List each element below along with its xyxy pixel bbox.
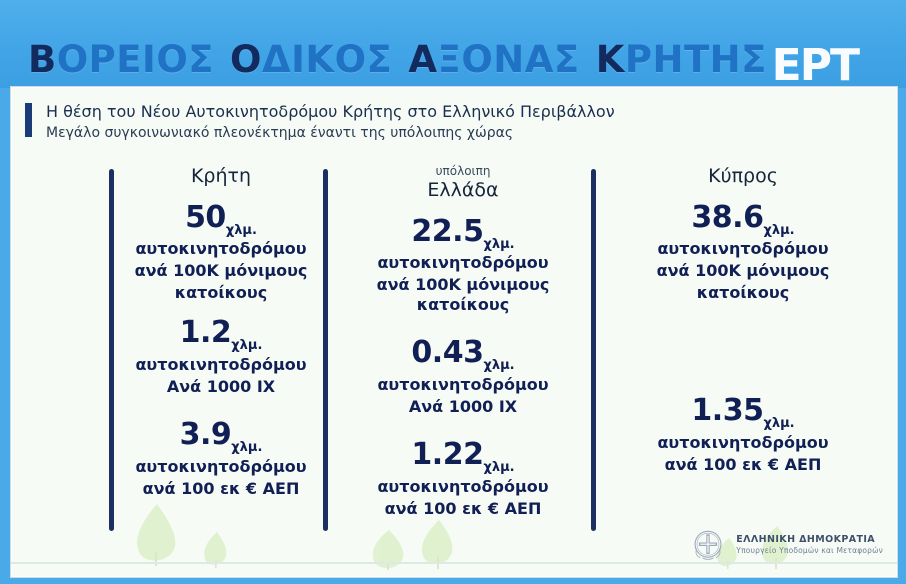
metric-value: 1.35χλμ. [603, 395, 883, 431]
metric-desc-line-1: αυτοκινητοδρόμου [603, 433, 883, 453]
title-word-4: ΚΡΗΤΗΣ [596, 38, 767, 81]
metric-unit: χλμ. [763, 416, 794, 431]
metric-desc-line-2: Ανά 1000 ΙΧ [335, 397, 591, 417]
header-band: ΒΟΡΕΙΟΣΟΔΙΚΟΣΑΞΟΝΑΣΚΡΗΤΗΣ ΕΡΤ [0, 0, 906, 88]
metric-unit: χλμ. [231, 440, 262, 455]
title-word-1: ΒΟΡΕΙΟΣ [28, 38, 214, 81]
metric-number: 1.22 [411, 437, 483, 472]
metric-greece-population: 22.5χλμ. αυτοκινητοδρόμου ανά 100Κ μόνιμ… [335, 216, 591, 316]
metric-unit: χλμ. [483, 358, 514, 373]
title-word-4-cap: Κ [596, 38, 625, 81]
metric-number: 1.35 [691, 393, 763, 428]
metric-value: 50χλμ. [121, 202, 321, 238]
metric-desc-line-2: ανά 100 εκ € ΑΕΠ [603, 455, 883, 475]
column-divider-3 [591, 169, 596, 531]
column-cyprus: Κύπρος 38.6χλμ. αυτοκινητοδρόμου ανά 100… [603, 165, 883, 475]
comparison-columns: Κρήτη 50χλμ. αυτοκινητοδρόμου ανά 100Κ μ… [11, 165, 897, 545]
metric-number: 3.9 [180, 417, 232, 452]
column-crete-header: Κρήτη [121, 166, 321, 188]
subtitle-secondary: Μεγάλο συγκοινωνιακό πλεονέκτημα έναντι … [46, 123, 615, 143]
metric-number: 1.2 [180, 315, 232, 350]
metric-desc-line-1: αυτοκινητοδρόμου [121, 355, 321, 375]
government-logo-text: ΕΛΛΗΝΙΚΗ ΔΗΜΟΚΡΑΤΙΑ Υπουργείο Υποδομών κ… [736, 534, 883, 556]
subtitle-primary: Η θέση του Νέου Αυτοκινητοδρόμου Κρήτης … [46, 101, 615, 123]
metric-desc-line-3: κατοίκους [121, 283, 321, 303]
metric-greece-vehicles: 0.43χλμ. αυτοκινητοδρόμου Ανά 1000 ΙΧ [335, 337, 591, 417]
metric-desc-line-3: κατοίκους [603, 283, 883, 303]
metric-desc-line-1: αυτοκινητοδρόμου [121, 239, 321, 259]
metric-crete-gdp: 3.9χλμ. αυτοκινητοδρόμου ανά 100 εκ € ΑΕ… [121, 419, 321, 499]
column-greece-header: υπόλοιπη Ελλάδα [335, 165, 591, 202]
ert-watermark-logo: ΕΡΤ [772, 44, 858, 88]
column-divider-2 [323, 169, 328, 531]
government-logo: ΕΛΛΗΝΙΚΗ ΔΗΜΟΚΡΑΤΙΑ Υπουργείο Υποδομών κ… [689, 526, 883, 564]
title-word-2-cap: Ο [230, 38, 262, 81]
content-card: Η θέση του Νέου Αυτοκινητοδρόμου Κρήτης … [10, 86, 898, 578]
metric-greece-gdp: 1.22χλμ. αυτοκινητοδρόμου ανά 100 εκ € Α… [335, 439, 591, 519]
metric-number: 50 [185, 200, 226, 235]
column-cyprus-header-main: Κύπρος [708, 165, 778, 187]
subtitle-block: Η θέση του Νέου Αυτοκινητοδρόμου Κρήτης … [25, 101, 615, 143]
government-subtitle: Υπουργείο Υποδομών και Μεταφορών [736, 546, 883, 556]
metric-desc-line-2: Ανά 1000 ΙΧ [121, 377, 321, 397]
greek-coat-of-arms-icon [689, 526, 727, 564]
metric-unit: χλμ. [231, 338, 262, 353]
title-word-1-cap: Β [28, 38, 57, 81]
subtitle-lines: Η θέση του Νέου Αυτοκινητοδρόμου Κρήτης … [46, 101, 615, 143]
metric-desc-line-1: αυτοκινητοδρόμου [335, 253, 591, 273]
metric-desc-line-2: ανά 100Κ μόνιμους κατοίκους [335, 275, 591, 315]
column-crete-header-main: Κρήτη [191, 165, 251, 187]
metric-value: 3.9χλμ. [121, 419, 321, 455]
metric-desc-line-2: ανά 100Κ μόνιμους [603, 261, 883, 281]
slide-root: ΒΟΡΕΙΟΣΟΔΙΚΟΣΑΞΟΝΑΣΚΡΗΤΗΣ ΕΡΤ Η θέση του… [0, 0, 906, 584]
metric-desc-line-2: ανά 100 εκ € ΑΕΠ [335, 499, 591, 519]
metric-value: 22.5χλμ. [335, 216, 591, 252]
metric-desc-line-1: αυτοκινητοδρόμου [335, 375, 591, 395]
column-greece-header-small: υπόλοιπη [335, 165, 591, 179]
metric-unit: χλμ. [763, 223, 794, 238]
metric-unit: χλμ. [483, 237, 514, 252]
title-word-3: ΑΞΟΝΑΣ [408, 38, 579, 81]
metric-value: 0.43χλμ. [335, 337, 591, 373]
government-title: ΕΛΛΗΝΙΚΗ ΔΗΜΟΚΡΑΤΙΑ [736, 534, 883, 546]
title-word-1-rest: ΟΡΕΙΟΣ [57, 38, 214, 81]
metric-number: 22.5 [411, 214, 483, 249]
metric-number: 38.6 [691, 200, 763, 235]
subtitle-accent-bar [25, 103, 32, 137]
page-title: ΒΟΡΕΙΟΣΟΔΙΚΟΣΑΞΟΝΑΣΚΡΗΤΗΣ [28, 38, 783, 81]
title-word-2-rest: ΔΙΚΟΣ [262, 38, 392, 81]
metric-value: 38.6χλμ. [603, 202, 883, 238]
title-word-3-rest: ΞΟΝΑΣ [437, 38, 579, 81]
title-word-3-cap: Α [408, 38, 437, 81]
column-crete: Κρήτη 50χλμ. αυτοκινητοδρόμου ανά 100Κ μ… [121, 165, 321, 499]
metric-desc-line-1: αυτοκινητοδρόμου [121, 457, 321, 477]
title-word-4-rest: ΡΗΤΗΣ [625, 38, 767, 81]
metric-desc-line-2: ανά 100Κ μόνιμους [121, 261, 321, 281]
column-greece-header-main: Ελλάδα [427, 179, 498, 201]
metric-value: 1.2χλμ. [121, 317, 321, 353]
metric-crete-vehicles: 1.2χλμ. αυτοκινητοδρόμου Ανά 1000 ΙΧ [121, 317, 321, 397]
metric-desc-line-2: ανά 100 εκ € ΑΕΠ [121, 479, 321, 499]
column-divider-1 [109, 169, 114, 531]
title-word-2: ΟΔΙΚΟΣ [230, 38, 392, 81]
metric-unit: χλμ. [226, 223, 257, 238]
metric-cyprus-population: 38.6χλμ. αυτοκινητοδρόμου ανά 100Κ μόνιμ… [603, 202, 883, 304]
metric-unit: χλμ. [483, 460, 514, 475]
metric-value: 1.22χλμ. [335, 439, 591, 475]
column-cyprus-header: Κύπρος [603, 166, 883, 188]
metric-desc-line-1: αυτοκινητοδρόμου [603, 239, 883, 259]
metric-number: 0.43 [411, 335, 483, 370]
metric-crete-population: 50χλμ. αυτοκινητοδρόμου ανά 100Κ μόνιμου… [121, 202, 321, 304]
metric-cyprus-gdp: 1.35χλμ. αυτοκινητοδρόμου ανά 100 εκ € Α… [603, 395, 883, 475]
column-rest-of-greece: υπόλοιπη Ελλάδα 22.5χλμ. αυτοκινητοδρόμο… [335, 165, 591, 519]
metric-desc-line-1: αυτοκινητοδρόμου [335, 477, 591, 497]
